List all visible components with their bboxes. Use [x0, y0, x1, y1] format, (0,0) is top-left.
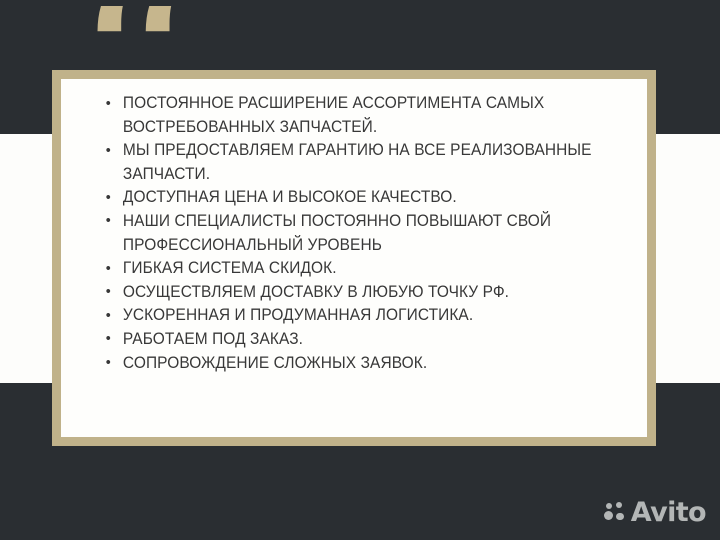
avito-logo-icon: [604, 502, 626, 524]
benefit-item: НАШИ СПЕЦИАЛИСТЫ ПОСТОЯННО ПОВЫШАЮТ СВОЙ…: [100, 210, 597, 257]
benefit-item: МЫ ПРЕДОСТАВЛЯЕМ ГАРАНТИЮ НА ВСЕ РЕАЛИЗО…: [100, 139, 597, 186]
benefit-item: ДОСТУПНАЯ ЦЕНА И ВЫСОКОЕ КАЧЕСТВО.: [100, 186, 597, 210]
benefit-item: ГИБКАЯ СИСТЕМА СКИДОК.: [100, 257, 597, 281]
benefit-item: ОСУЩЕСТВЛЯЕМ ДОСТАВКУ В ЛЮБУЮ ТОЧКУ РФ.: [100, 281, 597, 305]
slide-canvas: “ “ ПОСТОЯННОЕ РАСШИРЕНИЕ АССОРТИМЕНТА С…: [0, 0, 720, 540]
avito-brand-label: Avito: [631, 499, 706, 526]
benefit-item: УСКОРЕННАЯ И ПРОДУМАННАЯ ЛОГИСТИКА.: [100, 304, 597, 328]
avito-dot-top-right: [616, 502, 622, 508]
avito-dot-top-left: [606, 503, 613, 510]
benefit-item: СОПРОВОЖДЕНИЕ СЛОЖНЫХ ЗАЯВОК.: [100, 352, 597, 376]
avito-watermark: Avito: [604, 499, 706, 526]
benefit-item: ПОСТОЯННОЕ РАСШИРЕНИЕ АССОРТИМЕНТА САМЫХ…: [100, 92, 597, 139]
benefits-bullet-list: ПОСТОЯННОЕ РАСШИРЕНИЕ АССОРТИМЕНТА САМЫХ…: [100, 92, 620, 375]
benefit-item: РАБОТАЕМ ПОД ЗАКАЗ.: [100, 328, 597, 352]
avito-dot-bottom-right: [616, 513, 624, 521]
avito-dot-large: [604, 511, 614, 521]
